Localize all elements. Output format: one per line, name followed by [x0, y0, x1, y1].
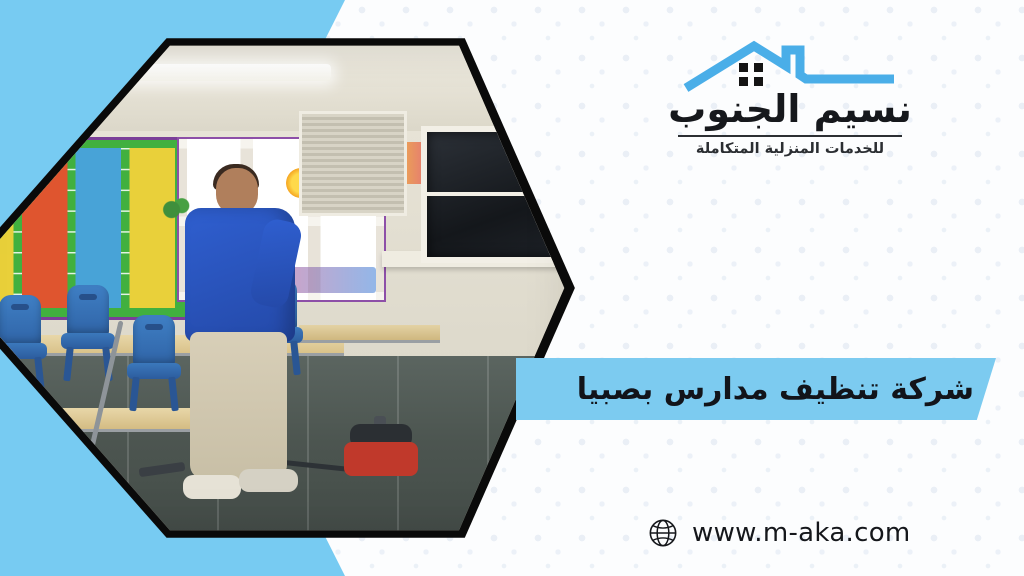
logo-divider	[678, 135, 902, 137]
website-url[interactable]: www.m-aka.com	[692, 518, 911, 548]
poster-canvas: نسيم الجنوب للخدمات المنزلية المتكاملة ش…	[0, 0, 1024, 576]
title-banner: شركة تنظيف مدارس بصبيا	[516, 358, 996, 420]
website-footer[interactable]: www.m-aka.com	[648, 518, 911, 548]
globe-icon	[648, 518, 678, 548]
house-roof-icon	[682, 40, 898, 92]
brand-name: نسيم الجنوب	[668, 90, 912, 130]
brand-tagline: للخدمات المنزلية المتكاملة	[668, 141, 912, 157]
brand-logo: نسيم الجنوب للخدمات المنزلية المتكاملة	[668, 40, 912, 157]
hero-image-frame	[0, 20, 580, 556]
page-title: شركة تنظيف مدارس بصبيا	[577, 372, 974, 407]
